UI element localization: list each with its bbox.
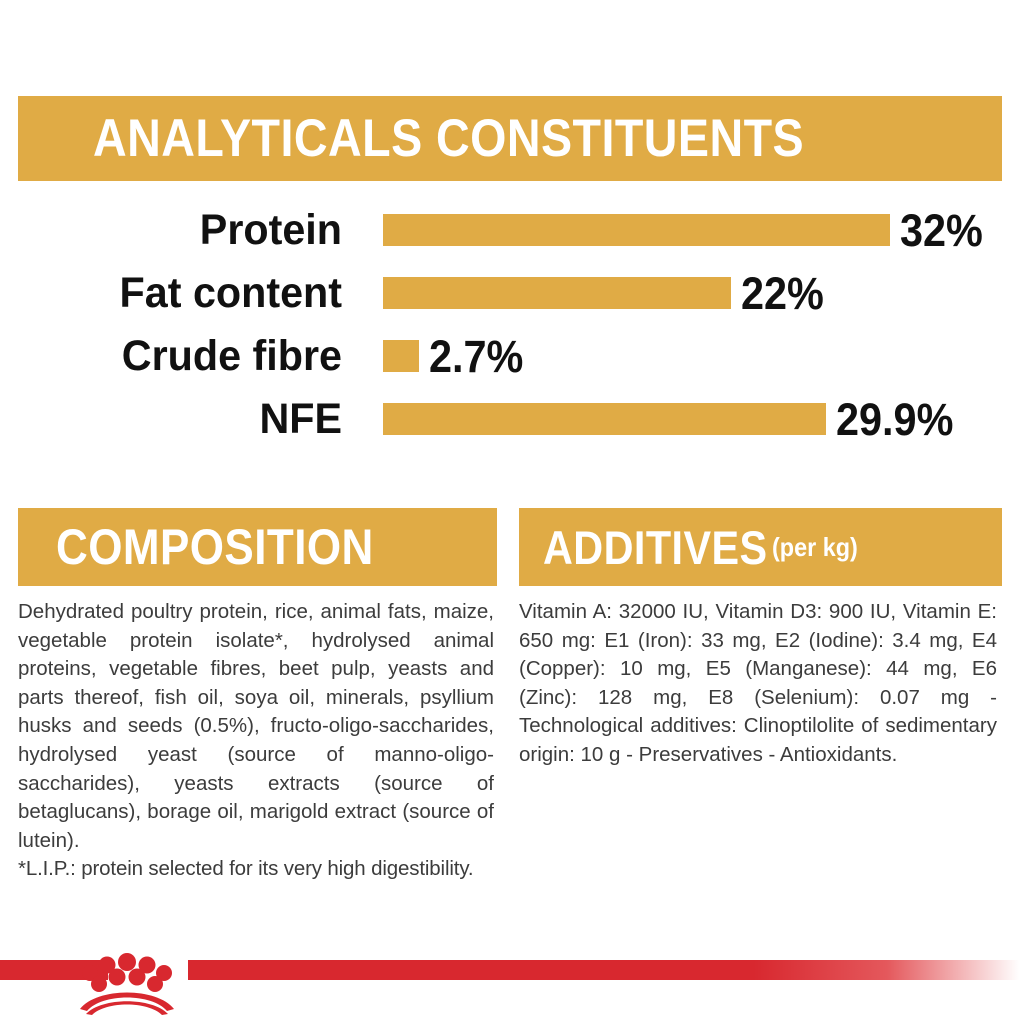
bar-fill-nfe (383, 403, 826, 435)
bar-track-crude-fibre: 2.7% (383, 326, 1002, 386)
bar-label-fat-content: Fat content (31, 272, 342, 315)
analyticals-header-band: ANALYTICALS CONSTITUENTS (18, 96, 1002, 181)
chart-row: Crude fibre 2.7% (18, 326, 1002, 386)
bar-fill-fat-content (383, 277, 731, 309)
bar-fill-crude-fibre (383, 340, 419, 372)
bar-fill-protein (383, 214, 890, 246)
composition-body: Dehydrated poultry protein, rice, animal… (18, 600, 494, 852)
additives-title: ADDITIVES (543, 524, 768, 571)
chart-row: Protein 32% (18, 200, 1002, 260)
royal-canin-crown-icon (72, 943, 182, 1015)
analyticals-bar-chart: Protein 32% Fat content 22% Crude fibre … (18, 196, 1002, 464)
bar-track-protein: 32% (383, 200, 1002, 260)
bar-value-fat-content: 22% (741, 271, 824, 316)
bar-label-protein: Protein (31, 209, 342, 252)
bar-label-nfe: NFE (31, 398, 342, 441)
additives-header-band: ADDITIVES (per kg) (519, 508, 1002, 586)
footer-rule-right (188, 960, 1020, 980)
composition-header-band: COMPOSITION (18, 508, 497, 586)
bar-value-crude-fibre: 2.7% (429, 334, 523, 379)
additives-body: Vitamin A: 32000 IU, Vitamin D3: 900 IU,… (519, 600, 997, 766)
bar-value-nfe: 29.9% (836, 397, 953, 442)
nutrition-panel: ANALYTICALS CONSTITUENTS Protein 32% Fat… (0, 0, 1020, 1020)
additives-text-block: Vitamin A: 32000 IU, Vitamin D3: 900 IU,… (519, 598, 997, 770)
composition-footnote: *L.I.P.: protein selected for its very h… (18, 855, 494, 884)
bar-track-fat-content: 22% (383, 263, 1002, 323)
additives-subtitle: (per kg) (772, 534, 858, 560)
bar-label-crude-fibre: Crude fibre (31, 335, 342, 378)
bar-value-protein: 32% (900, 208, 983, 253)
analyticals-title: ANALYTICALS CONSTITUENTS (93, 112, 804, 165)
bar-track-nfe: 29.9% (383, 389, 1002, 449)
chart-row: Fat content 22% (18, 263, 1002, 323)
composition-text-block: Dehydrated poultry protein, rice, animal… (18, 598, 494, 884)
chart-row: NFE 29.9% (18, 389, 1002, 449)
composition-title: COMPOSITION (56, 522, 374, 572)
footer-brand-bar (0, 945, 1020, 1020)
